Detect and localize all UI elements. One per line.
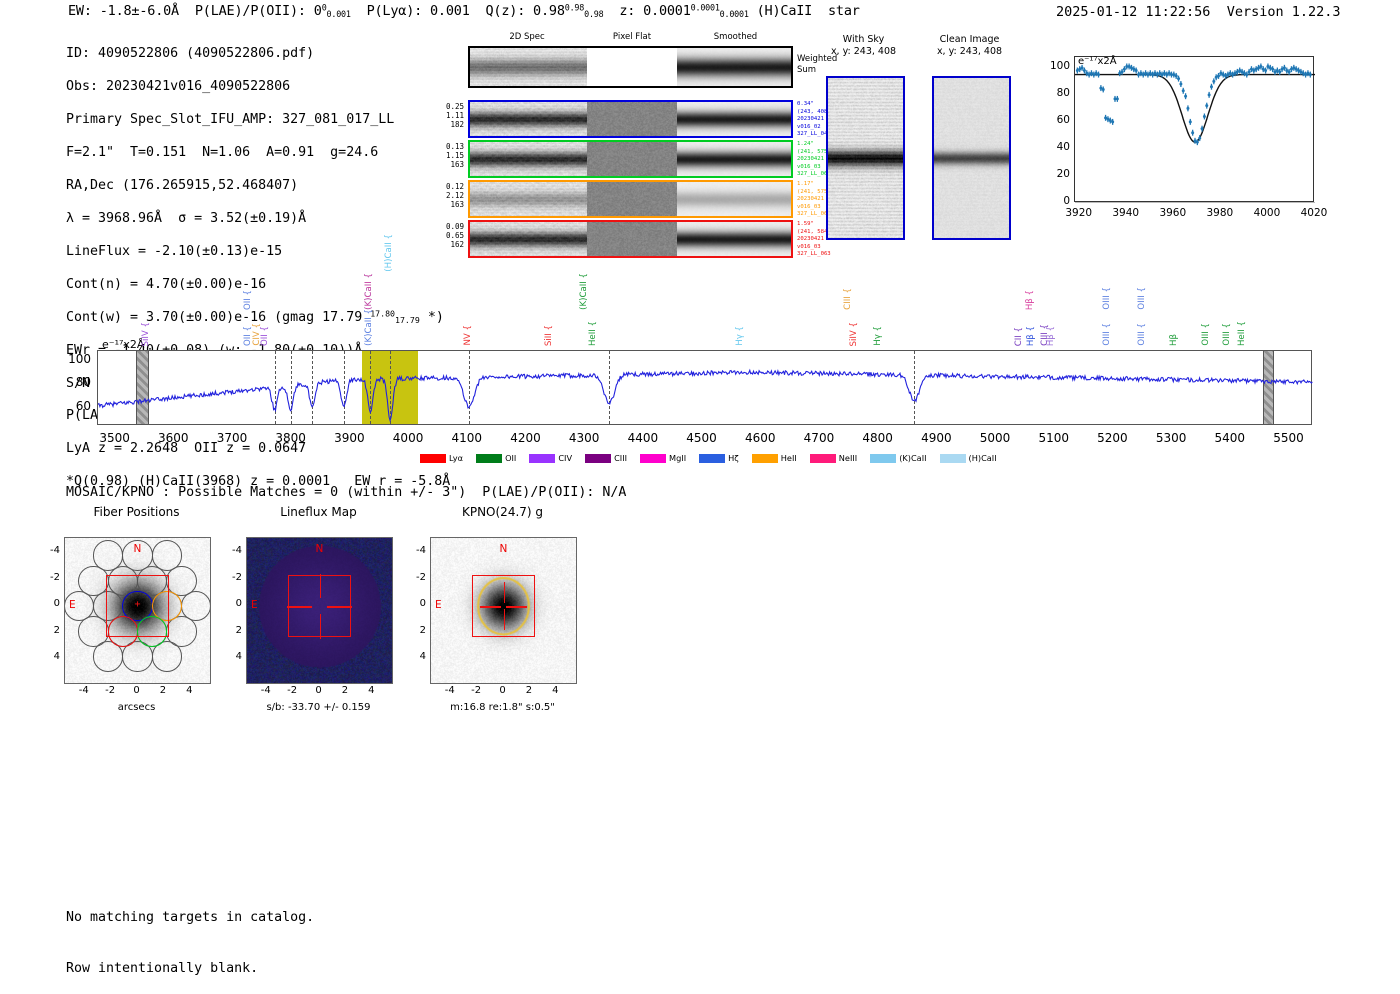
panel-ytick: 0 [408,598,426,609]
cutout-title-clean-image: Clean Imagex, y: 243, 408 [916,34,1023,57]
row-pixelflat [587,102,678,136]
compass-north: N [134,543,142,555]
legend-swatch [640,454,666,463]
panel-xtick: -2 [462,685,490,696]
panel-frame-fiber-positions: +NE [64,537,211,684]
spectrum-line-label: OII { [260,326,270,346]
panel-ytick: 2 [42,625,60,636]
row-smoothed [677,222,791,256]
fiber-circle [93,540,123,570]
line-profile-svg [1075,57,1315,203]
data-point [1212,78,1215,84]
spectrum-line-label: SiIV { [849,322,859,346]
spectrum-xtick: 5200 [1084,431,1140,445]
panel-ytick: -4 [42,545,60,556]
panel-xtick: 0 [123,685,151,696]
legend-label: MgII [669,453,686,463]
spectrum-line-label: Hβ { [1025,290,1035,310]
footer-notes: No matching targets in catalog. Row inte… [66,875,314,994]
cutout-image-clean-image [932,76,1011,240]
data-point [1184,93,1187,99]
panel-crosshair-arm [504,582,505,603]
panel-crosshair-arm [320,574,321,599]
data-point [1186,105,1189,111]
panel-ytick: 0 [224,598,242,609]
panel-ytick: -2 [408,572,426,583]
legend-swatch [476,454,502,463]
row-left-stat-value: 0.09 [434,222,464,231]
row-left-stats: 0.122.12163 [434,182,464,209]
profile-xtick: 4020 [1292,207,1336,219]
row-left-stat-value: 1.11 [434,111,464,120]
spectrum-xtick: 5000 [967,431,1023,445]
legend-label: Lyα [449,453,463,463]
legend-item: Lyα [420,453,463,463]
spectrum-line-label: OIII { [1137,287,1147,310]
profile-xtick: 4000 [1245,207,1289,219]
spectrum-ytick: 100 [53,352,91,366]
panel-ytick: -4 [224,545,242,556]
spectrum-line-label: Hγ { [735,326,745,346]
spectrum-line-label: (H)CaII { [384,234,394,272]
spectrum-xtick: 3700 [204,431,260,445]
spectrum-flux-trace [98,370,1312,420]
spectrum-line-label: OIII { [1137,323,1147,346]
spectrum-line-label: SiIV { [141,322,151,346]
weighted-sum-smoothed [677,48,791,86]
panel-caption-kpno-image: m:16.8 re:1.8" s:0.5" [395,702,610,713]
header-qz: Q(z): 0.98 [485,3,564,19]
row-pixelflat [587,182,678,216]
data-point [1189,119,1192,125]
row-2dspec [470,142,587,176]
legend-label: OII [505,453,516,463]
spectrum-xtick: 4400 [615,431,671,445]
panel-xtick: 0 [305,685,333,696]
panel-xtick: 2 [331,685,359,696]
row-left-stat-value: 182 [434,120,464,129]
panel-crosshair-arm [506,606,527,607]
spec2d-column-title-1: 2D Spec [482,32,572,42]
spectrum-trace-svg [98,351,1313,426]
spec2d-column-title-3: Smoothed [691,32,781,42]
spectrum-line-label: Hβ { [1026,326,1036,346]
compass-east: E [251,599,258,611]
panel-center-marker: + [135,599,141,610]
data-point [1208,92,1211,98]
panel-title-fiber-positions: Fiber Positions [44,505,229,519]
profile-xtick: 3960 [1151,207,1195,219]
panel-title-lineflux-map: Lineflux Map [226,505,411,519]
info-radec: RA,Dec (176.265915,52.468407) [66,178,450,194]
panel-xtick: -2 [278,685,306,696]
compass-north: N [500,543,508,555]
header-z-sub: 0.0001 [720,9,749,19]
panel-xtick: -4 [70,685,98,696]
profile-ytick: 0 [1038,195,1070,207]
panel-crosshair-arm [320,614,321,639]
legend-swatch [870,454,896,463]
spectrum-line-label: OIII { [1222,323,1232,346]
header-datetime: 2025-01-12 11:22:56 [1056,4,1210,20]
header-z: z: 0.0001 [619,3,690,19]
panel-title-kpno-image: KPNO(24.7) g [410,505,595,519]
legend-item: NeIII [810,453,857,463]
spectrum-line-label: Hβ [1169,334,1179,346]
panel-ytick: 4 [42,651,60,662]
legend-swatch [699,454,725,463]
cutout-images: With Skyx, y: 243, 408Clean Imagex, y: 2… [810,32,1025,272]
spectrum-xtick: 4600 [732,431,788,445]
spectrum-line-label: OIII { [1102,287,1112,310]
profile-xtick: 3920 [1057,207,1101,219]
data-point [1182,88,1185,94]
legend-item: OII [476,453,516,463]
legend-swatch [752,454,778,463]
spectrum-xtick: 5400 [1202,431,1258,445]
spectrum-line-label: HeII { [1237,321,1247,346]
data-point [1116,96,1119,102]
header-version: Version 1.22.3 [1227,4,1341,20]
legend-item: Hζ [699,453,739,463]
profile-ytick: 40 [1038,141,1070,153]
spectrum-xtick: 4700 [791,431,847,445]
info-obs: Obs: 20230421v016_4090522806 [66,79,450,95]
profile-ytick: 100 [1038,60,1070,72]
row-2dspec [470,102,587,136]
row-left-stat-value: 0.65 [434,231,464,240]
legend-label: CIV [558,453,572,463]
spectrum-xtick: 5500 [1261,431,1317,445]
mosaic-panels: Fiber Positions+NE-44-22002-24-4arcsecsL… [0,505,620,720]
header-timestamp-version: 2025-01-12 11:22:56 Version 1.22.3 [1056,4,1341,20]
legend-label: (K)CaII [899,453,926,463]
spectrum-line-label: HeII { [588,321,598,346]
header-plya: P(Lyα): 0.001 [367,3,470,19]
spec2d-row [468,220,793,258]
spectrum-ytick: 60 [53,399,91,413]
row-left-stats: 0.251.11182 [434,102,464,129]
legend-item: CIII [585,453,627,463]
full-spectrum-chart: LyαOIICIVCIIIMgIIHζHeIINeIII(K)CaII(H)Ca… [0,258,1400,473]
row-pixelflat [587,222,678,256]
row-left-stat-value: 1.15 [434,151,464,160]
spectrum-line-label: CIII { [843,288,853,310]
footer-line-1: No matching targets in catalog. [66,909,314,926]
legend-label: NeIII [839,453,857,463]
fiber-circle [152,540,182,570]
spec2d-row [468,100,793,138]
spectrum-xtick: 5100 [1026,431,1082,445]
spectrum-xtick: 4500 [674,431,730,445]
data-point [1205,103,1208,109]
spec2d-weighted-sum-row [468,46,793,88]
spectrum-line-label: OIII { [1201,323,1211,346]
spectrum-line-label: NV { [463,325,473,346]
header-classification: (H)CaII star [757,3,860,19]
data-point [1179,81,1182,87]
panel-xtick: 2 [515,685,543,696]
profile-ytick: 80 [1038,87,1070,99]
spectrum-xtick: 4800 [850,431,906,445]
panel-ytick: 4 [408,651,426,662]
panel-xtick: -4 [252,685,280,696]
panel-ytick: 4 [224,651,242,662]
spectrum-line-label: OIII { [1102,323,1112,346]
cutout-title-text: Clean Image [916,34,1023,46]
footer-line-2: Row intentionally blank. [66,960,314,977]
panel-xtick: -4 [436,685,464,696]
row-smoothed [677,182,791,216]
legend-item: (H)CaII [940,453,997,463]
cutout-title-text: With Sky [810,34,917,46]
spectrum-xtick: 3600 [145,431,201,445]
panel-frame-kpno-image: NE [430,537,577,684]
data-point [1203,114,1206,120]
legend-label: HeII [781,453,797,463]
spectrum-line-label: SiII { [544,325,554,346]
legend-swatch [585,454,611,463]
header-ew-plae: EW: -1.8±-6.0Å P(LAE)/P(OII): 0 [68,3,322,19]
row-left-stat-value: 162 [434,240,464,249]
line-profile-plot-area: e⁻¹⁷x2Å [1074,56,1314,202]
legend-label: Hζ [728,453,739,463]
header-qz-sup: 0.98 [565,2,584,12]
panel-ytick: -2 [42,572,60,583]
spectrum-xtick: 3500 [87,431,143,445]
spectrum-xtick: 4000 [380,431,436,445]
panel-frame-lineflux-map: NE [246,537,393,684]
row-left-stat-value: 163 [434,160,464,169]
panel-xtick: 4 [175,685,203,696]
spec2d-row [468,180,793,218]
spectrum-line-label: OII { [243,290,253,310]
panel-xtick: 2 [149,685,177,696]
compass-east: E [69,599,76,611]
panel-ytick: -4 [408,545,426,556]
full-spectrum-plot-area [97,350,1312,425]
header-plae-sub: 0.001 [327,9,351,19]
panel-xtick: 0 [489,685,517,696]
spec2d-stack: 2D SpecPixel FlatSmoothedWeighted Sum0.2… [430,32,820,272]
profile-xtick: 3940 [1104,207,1148,219]
weighted-sum-2dspec [470,48,587,86]
cutout-subtitle-text: x, y: 243, 408 [916,46,1023,58]
row-left-stat-value: 0.13 [434,142,464,151]
profile-ytick: 60 [1038,114,1070,126]
data-point [1210,84,1213,90]
spectrum-legend: LyαOIICIVCIIIMgIIHζHeIINeIII(K)CaII(H)Ca… [420,453,1006,463]
header-summary-line: EW: -1.8±-6.0Å P(LAE)/P(OII): 000.001 P(… [68,3,860,19]
spectrum-line-label: (K)CaII { [364,273,374,310]
row-left-stat-value: 0.12 [434,182,464,191]
panel-caption-lineflux-map: s/b: -33.70 +/- 0.159 [211,702,426,713]
spectrum-xtick: 3800 [263,431,319,445]
info-seeing: F=2.1" T=0.151 N=1.06 A=0.91 g=24.6 [66,145,450,161]
legend-swatch [940,454,966,463]
row-2dspec [470,182,587,216]
spec2d-row [468,140,793,178]
spectrum-xtick: 4900 [908,431,964,445]
legend-swatch [420,454,446,463]
legend-swatch [529,454,555,463]
row-left-stat-value: 163 [434,200,464,209]
line-profile-model-curve [1075,75,1315,143]
spectrum-line-label: Hγ { [873,326,883,346]
cutout-title-with-sky: With Skyx, y: 243, 408 [810,34,917,57]
profile-xtick: 3980 [1198,207,1242,219]
header-qz-sub: 0.98 [584,9,603,19]
panel-xtick: 4 [357,685,385,696]
legend-item: CIV [529,453,572,463]
spectrum-xtick: 4200 [497,431,553,445]
row-2dspec [470,222,587,256]
compass-east: E [435,599,442,611]
profile-ytick: 20 [1038,168,1070,180]
row-left-stats: 0.090.65162 [434,222,464,249]
spectrum-xtick: 4300 [556,431,612,445]
spectrum-flux-annotation: e⁻¹⁷x2Å [102,338,144,351]
panel-ytick: -2 [224,572,242,583]
row-smoothed [677,142,791,176]
row-pixelflat [587,142,678,176]
cutout-image-with-sky [826,76,905,240]
spec2d-column-title-2: Pixel Flat [587,32,677,42]
spectrum-line-label: CII { [1014,327,1024,346]
row-left-stat-value: 2.12 [434,191,464,200]
mosaic-title: MOSAIC/KPNO : Possible Matches = 0 (with… [66,485,626,500]
line-profile-chart: e⁻¹⁷x2Å 02040608010039203940396039804000… [1034,48,1320,230]
panel-crosshair-arm [504,609,505,630]
panel-crosshair-arm [480,606,501,607]
panel-crosshair-arm [327,606,352,607]
spectrum-line-label: (K)CaII { [364,309,374,346]
weighted-sum-pixelflat [587,48,678,86]
compass-north: N [316,543,324,555]
row-left-stat-value: 0.25 [434,102,464,111]
legend-swatch [810,454,836,463]
spectrum-line-label: (K)CaII { [579,273,589,310]
spectrum-xtick: 3900 [321,431,377,445]
spectrum-xtick: 5300 [1143,431,1199,445]
panel-xtick: -2 [96,685,124,696]
legend-label: (H)CaII [969,453,997,463]
line-profile-flux-annotation: e⁻¹⁷x2Å [1078,56,1117,67]
panel-xtick: 4 [541,685,569,696]
data-point [1191,130,1194,136]
panel-ytick: 0 [42,598,60,609]
header-z-sup: 0.0001 [691,2,720,12]
panel-ytick: 2 [408,625,426,636]
panel-crosshair-arm [287,606,312,607]
info-id: ID: 4090522806 (4090522806.pdf) [66,46,450,62]
spectrum-xtick: 4100 [439,431,495,445]
info-lambda-sigma: λ = 3968.96Å σ = 3.52(±0.19)Å [66,211,450,227]
panel-ytick: 2 [224,625,242,636]
row-left-stats: 0.131.15163 [434,142,464,169]
info-primary-spec: Primary Spec_Slot_IFU_AMP: 327_081_017_L… [66,112,450,128]
spectrum-line-label: Hβ { [1046,326,1056,346]
legend-item: (K)CaII [870,453,926,463]
row-smoothed [677,102,791,136]
spectrum-ytick: 80 [53,375,91,389]
legend-item: MgII [640,453,686,463]
legend-label: CIII [614,453,627,463]
cutout-subtitle-text: x, y: 243, 408 [810,46,917,58]
legend-item: HeII [752,453,797,463]
